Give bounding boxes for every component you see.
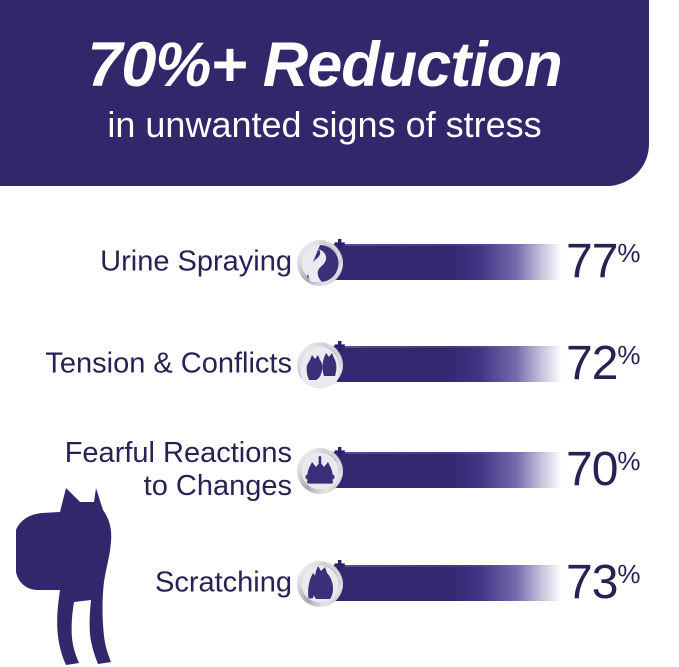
stat-bar [330, 565, 562, 601]
stat-value-percent: % [617, 446, 640, 476]
stat-bar [330, 452, 562, 488]
stat-value: 77% [566, 238, 662, 286]
stat-value-percent: % [617, 238, 640, 268]
stat-value-number: 70 [566, 443, 617, 496]
stat-value-number: 77 [566, 235, 617, 288]
stat-label: Urine Spraying [0, 246, 292, 279]
stat-row-fearful-reactions: Fearful Reactions to Changes 70% [0, 446, 679, 494]
stat-value: 70% [566, 446, 662, 494]
two-cats-conflict-badge-icon [296, 338, 348, 390]
stat-label: Tension & Conflicts [0, 348, 292, 381]
stat-value-number: 72 [566, 337, 617, 390]
stat-value: 73% [566, 559, 662, 607]
stat-label: Scratching [0, 567, 292, 600]
stat-value-percent: % [617, 340, 640, 370]
stat-value-percent: % [617, 559, 640, 589]
stat-value-number: 73 [566, 556, 617, 609]
cat-scratching-badge-icon [296, 557, 348, 609]
cat-spraying-badge-icon [296, 236, 348, 288]
stats-list: Urine Spraying 77% [0, 0, 679, 667]
stat-bar [330, 244, 562, 280]
stat-row-scratching: Scratching 73% [0, 559, 679, 607]
fearful-cat-badge-icon [296, 444, 348, 496]
stat-label: Fearful Reactions to Changes [0, 437, 292, 503]
stat-row-urine-spraying: Urine Spraying 77% [0, 238, 679, 286]
stat-row-tension-conflicts: Tension & Conflicts 72% [0, 340, 679, 388]
stat-bar [330, 346, 562, 382]
stat-value: 72% [566, 340, 662, 388]
